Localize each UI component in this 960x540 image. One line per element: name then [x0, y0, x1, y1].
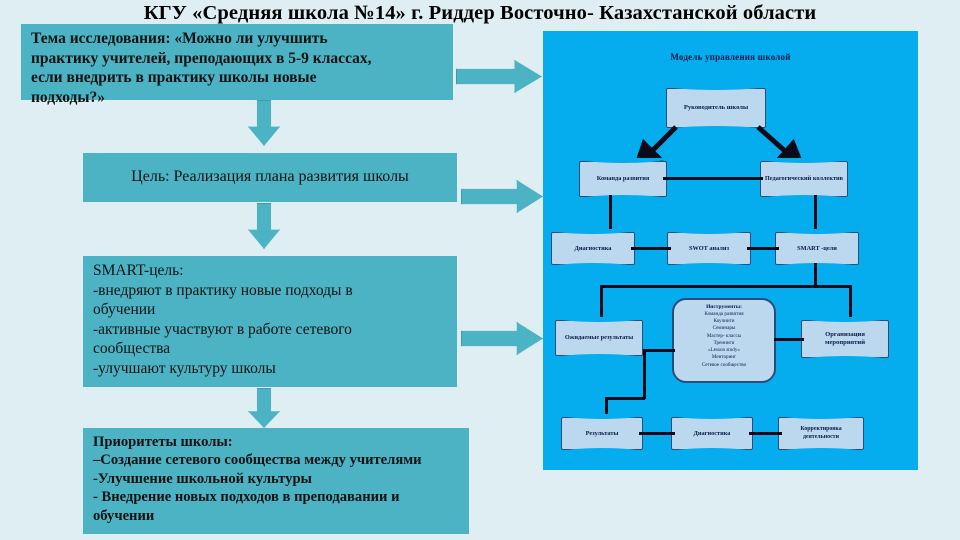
theme-line-3: если внедрить в практику школы новые [31, 68, 443, 88]
connector-tools-eventorg [774, 338, 804, 341]
arrow-down-icon [248, 388, 280, 428]
school-management-model-panel: Модель управления школой Руководитель шк… [543, 31, 918, 470]
connector-tools-left [643, 349, 675, 352]
connector-results-feed [605, 397, 645, 400]
smart-line-3: обучении [93, 300, 447, 320]
connector-tools-down [643, 349, 646, 399]
priorities-box: Приоритеты школы: –Создание сетевого соо… [83, 428, 469, 534]
node-head-of-school: Руководитель школы [666, 88, 766, 128]
page-title: КГУ «Средняя школа №14» г. Риддер Восточ… [0, 2, 960, 25]
connector-results-diagnostics [639, 432, 675, 435]
tools-box: Инструменты: Команда развития Коучинги С… [672, 298, 776, 383]
connector-diagnostics-swot [631, 247, 671, 250]
connector-swot-smartgoals [747, 247, 779, 250]
connector-smartgoals-down [814, 263, 817, 287]
tools-item: Коучинги [676, 318, 772, 325]
theme-line-4: подходы?» [31, 88, 443, 108]
node-expected-results-label: Ожидаемые результаты [562, 334, 636, 342]
theme-box: Тема исследования: «Можно ли улучшить пр… [21, 24, 453, 100]
goal-text: Цель: Реализация плана развития школы [131, 167, 409, 187]
smart-line-2: -внедряют в практику новые подходы в [93, 281, 447, 301]
node-development-team-label: Команда развития [594, 175, 653, 183]
node-smart-goals: SMART -цели [775, 232, 859, 265]
node-event-organisation: Организация мероприятий [801, 320, 889, 358]
tools-item: Менторинг [676, 354, 772, 361]
smart-line-6: -улучшают культуру школы [93, 359, 447, 379]
tools-item: Команда развития [676, 311, 772, 318]
node-expected-results: Ожидаемые результаты [555, 320, 643, 356]
tools-item: Тренинги [676, 340, 772, 347]
arrow-right-icon [461, 322, 543, 355]
node-swot-analysis-label: SWOT анализ [686, 245, 732, 253]
connector-bus-left-down [600, 285, 603, 325]
node-smart-goals-label: SMART -цели [794, 245, 840, 253]
smart-line-4: -активные участвуют в работе сетевого [93, 320, 447, 340]
priorities-line-2: –Создание сетевого сообщества между учит… [93, 451, 459, 469]
priorities-line-4: - Внедрение новых подходов в преподавани… [93, 488, 459, 506]
connector-bus-horizontal [600, 285, 852, 288]
node-results: Результаты [561, 417, 643, 450]
theme-line-2: практику учителей, преподающих в 5-9 кла… [31, 49, 443, 69]
priorities-line-1: Приоритеты школы: [93, 433, 459, 451]
priorities-line-5: обучении [93, 507, 459, 525]
node-head-of-school-label: Руководитель школы [681, 104, 751, 112]
tools-item: «Lesson study» [676, 347, 772, 354]
node-results-label: Результаты [583, 430, 622, 438]
connector-pedstaff-smartgoals [814, 195, 817, 235]
node-activity-correction: Корректировка деятельности [778, 417, 864, 450]
goal-box: Цель: Реализация плана развития школы [83, 153, 457, 202]
node-diagnostics-bottom: Диагностика [671, 417, 753, 450]
arrow-right-icon [461, 180, 543, 213]
arrow-right-icon [456, 60, 542, 93]
smart-goal-box: SMART-цель: -внедряют в практику новые п… [83, 256, 457, 387]
tools-item: Семинары [676, 325, 772, 332]
node-teaching-staff: Педагогический коллектив [760, 161, 848, 197]
arrow-down-icon [248, 203, 280, 249]
connector-devteam-pedstaff [663, 177, 763, 180]
connector-bus-right-down [849, 285, 852, 325]
theme-line-1: Тема исследования: «Можно ли улучшить [31, 29, 443, 49]
connector-devteam-diagnostics [609, 195, 612, 235]
node-swot-analysis: SWOT анализ [667, 232, 751, 265]
tools-item: Сетевое сообщество [676, 362, 772, 369]
smart-line-5: сообщества [93, 339, 447, 359]
node-diagnostics-bottom-label: Диагностика [691, 430, 734, 438]
tools-item: Мастер- классы [676, 333, 772, 340]
node-event-organisation-label: Организация мероприятий [802, 331, 888, 347]
node-diagnostics-top: Диагностика [551, 232, 635, 265]
smart-line-1: SMART-цель: [93, 261, 447, 281]
slide-canvas: КГУ «Средняя школа №14» г. Риддер Восточ… [0, 0, 960, 540]
node-teaching-staff-label: Педагогический коллектив [762, 175, 846, 183]
tools-heading: Инструменты: [676, 304, 772, 310]
node-diagnostics-top-label: Диагностика [572, 245, 615, 253]
priorities-line-3: -Улучшение школьной культуры [93, 470, 459, 488]
connector-diagnostics-correction [749, 432, 782, 435]
node-development-team: Команда развития [579, 161, 667, 197]
node-activity-correction-label: Корректировка деятельности [779, 426, 863, 440]
diagram-title: Модель управления школой [543, 52, 918, 62]
